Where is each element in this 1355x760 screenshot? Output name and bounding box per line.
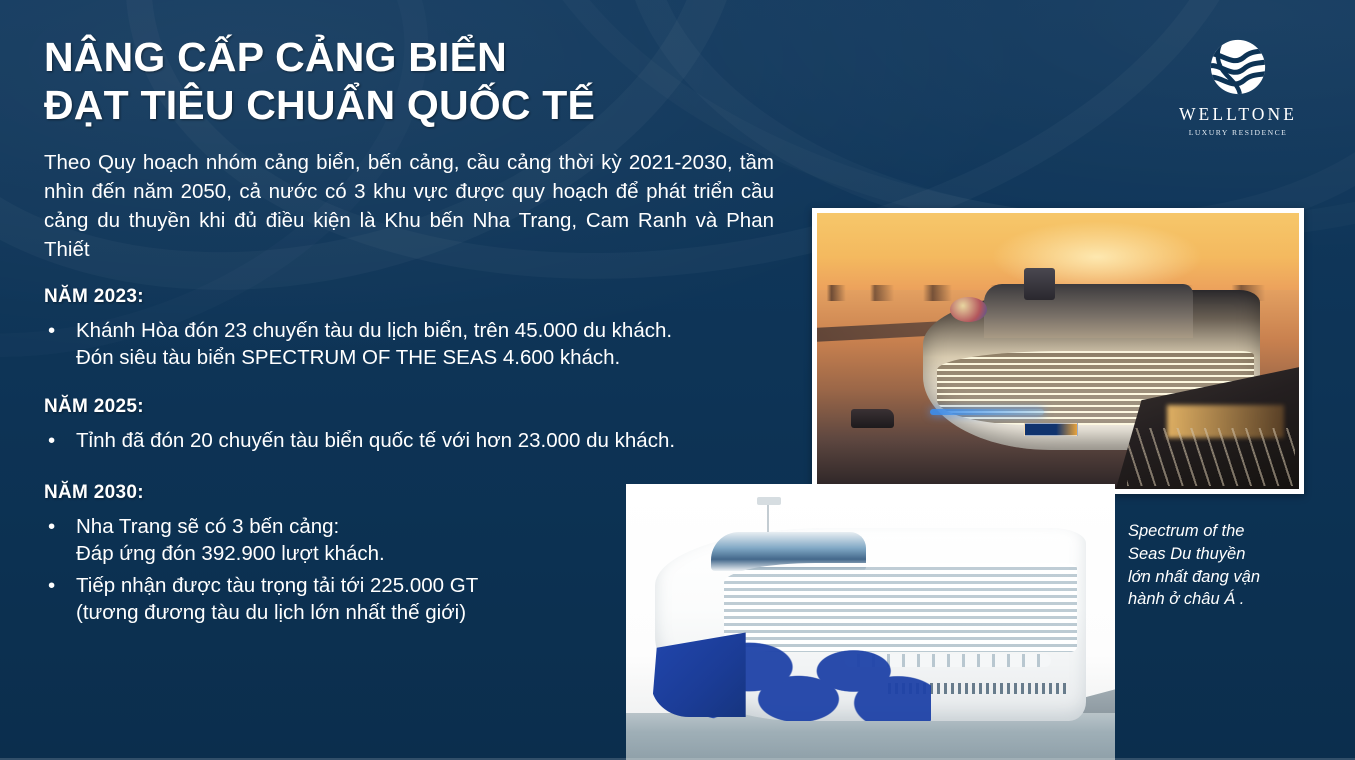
bullet-marker-icon: • xyxy=(44,572,76,627)
terminal-roof-ribs xyxy=(1127,428,1296,486)
brand-logo: WELLTONE LUXURY RESIDENCE xyxy=(1177,36,1299,137)
section-heading-2025: NĂM 2025: xyxy=(44,396,784,418)
sunset-glow xyxy=(991,221,1203,293)
caption-line: hành ở châu Á . xyxy=(1128,588,1333,611)
logo-wordmark: WELLTONE xyxy=(1177,104,1299,125)
list-item: • Tỉnh đã đón 20 chuyến tàu biển quốc tế… xyxy=(44,427,784,454)
intro-paragraph: Theo Quy hoạch nhóm cảng biển, bến cảng,… xyxy=(44,148,774,264)
observation-pod xyxy=(950,297,987,323)
caption-line: Seas Du thuyền xyxy=(1128,543,1333,566)
section-nam-2025: NĂM 2025: • Tỉnh đã đón 20 chuyến tàu bi… xyxy=(44,396,784,458)
royal-caribbean-banner xyxy=(1024,423,1078,436)
caption-line: lớn nhất đang vận xyxy=(1128,566,1333,589)
section-heading-2023: NĂM 2023: xyxy=(44,286,784,308)
ship-superstructure xyxy=(984,284,1193,338)
bullet-marker-icon: • xyxy=(44,513,76,568)
white-cruise-ship-blue-wave-hull-photo xyxy=(626,484,1115,760)
bullet-marker-icon: • xyxy=(44,427,76,454)
list-item-line: Đón siêu tàu biển SPECTRUM OF THE SEAS 4… xyxy=(76,344,784,371)
logo-tagline: LUXURY RESIDENCE xyxy=(1177,128,1299,137)
photo-caption: Spectrum of the Seas Du thuyền lớn nhất … xyxy=(1128,520,1333,611)
ship-mast xyxy=(767,501,769,536)
page-title-line-1: NÂNG CẤP CẢNG BIỂN xyxy=(44,34,507,80)
bullet-marker-icon: • xyxy=(44,317,76,372)
tugboat xyxy=(851,409,894,428)
list-item-text: Tỉnh đã đón 20 chuyến tàu biển quốc tế v… xyxy=(76,427,784,454)
list-item-text: Khánh Hòa đón 23 chuyến tàu du lịch biển… xyxy=(76,317,784,372)
cruise-ship-at-sunset-port-photo xyxy=(812,208,1304,494)
section-nam-2023: NĂM 2023: • Khánh Hòa đón 23 chuyến tàu … xyxy=(44,286,784,376)
list-item: • Khánh Hòa đón 23 chuyến tàu du lịch bi… xyxy=(44,317,784,372)
ship-funnel xyxy=(1024,268,1054,300)
princess-cruise-ship xyxy=(655,528,1085,721)
list-item-line: Khánh Hòa đón 23 chuyến tàu du lịch biển… xyxy=(76,317,784,344)
page-title-line-2: ĐẠT TIÊU CHUẨN QUỐC TẾ xyxy=(44,82,804,130)
page-title: NÂNG CẤP CẢNG BIỂN ĐẠT TIÊU CHUẨN QUỐC T… xyxy=(44,34,804,130)
welltone-circle-wave-icon xyxy=(1207,36,1269,98)
list-item-line: Tỉnh đã đón 20 chuyến tàu biển quốc tế v… xyxy=(76,427,784,454)
ship-blue-light-strip xyxy=(930,409,1045,415)
caption-line: Spectrum of the xyxy=(1128,520,1333,543)
slide-canvas: NÂNG CẤP CẢNG BIỂN ĐẠT TIÊU CHUẨN QUỐC T… xyxy=(0,0,1355,760)
